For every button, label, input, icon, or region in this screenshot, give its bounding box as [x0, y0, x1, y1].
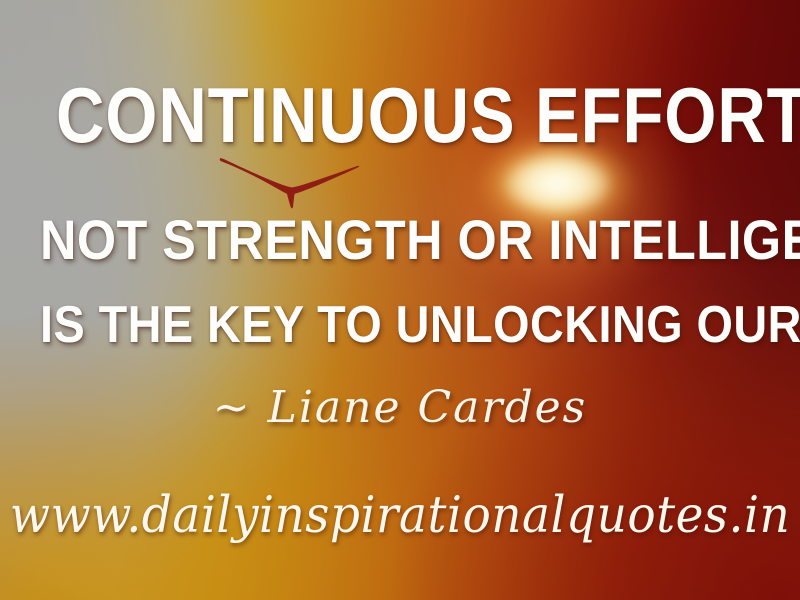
flying-bird-icon [218, 158, 360, 210]
quote-line-2: NOT STRENGTH OR INTELLIGENCE [40, 209, 760, 271]
site-watermark: www.dailyinspirationalquotes.in [0, 481, 800, 550]
sun-highlight-icon [505, 156, 609, 212]
quote-line-1: CONTINUOUS EFFORT, [56, 72, 744, 158]
quote-author: ~ Liane Cardes [0, 380, 800, 436]
quote-poster: CONTINUOUS EFFORT, NOT STRENGTH OR INTEL… [0, 0, 800, 600]
quote-line-3: IS THE KEY TO UNLOCKING OUR POTENTIAL. [40, 296, 760, 354]
